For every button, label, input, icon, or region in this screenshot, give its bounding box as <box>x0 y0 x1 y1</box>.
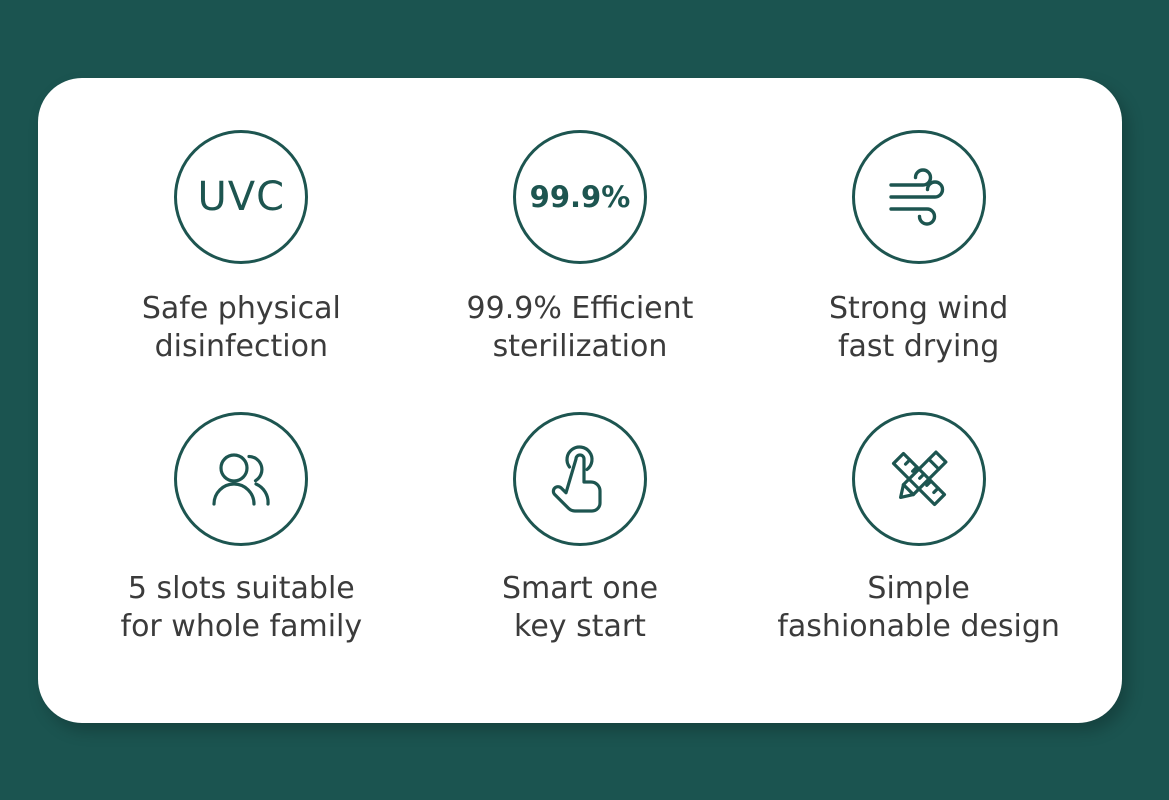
wind-icon <box>852 130 986 264</box>
two-people-icon <box>174 412 308 546</box>
uvc-icon-label: UVC <box>198 177 286 217</box>
feature-caption-wind: Strong wind fast drying <box>829 290 1008 367</box>
feature-caption-one-key: Smart one key start <box>502 570 658 647</box>
feature-card: UVC Safe physical disinfection 99.9% 99.… <box>38 78 1122 723</box>
percentage-icon-label: 99.9% <box>530 183 631 212</box>
uvc-text-icon: UVC <box>174 130 308 264</box>
feature-caption-uvc: Safe physical disinfection <box>142 290 341 367</box>
feature-item-family: 5 slots suitable for whole family <box>72 412 411 682</box>
feature-caption-design: Simple fashionable design <box>777 570 1060 647</box>
feature-item-design: Simple fashionable design <box>749 412 1088 682</box>
feature-item-sterilization: 99.9% 99.9% Efficient sterilization <box>411 130 750 400</box>
feature-caption-sterilization: 99.9% Efficient sterilization <box>467 290 694 367</box>
percentage-text-icon: 99.9% <box>513 130 647 264</box>
feature-item-wind: Strong wind fast drying <box>749 130 1088 400</box>
feature-caption-family: 5 slots suitable for whole family <box>121 570 363 647</box>
feature-grid: UVC Safe physical disinfection 99.9% 99.… <box>72 130 1088 681</box>
pencil-ruler-icon <box>852 412 986 546</box>
feature-item-uvc: UVC Safe physical disinfection <box>72 130 411 400</box>
feature-item-one-key: Smart one key start <box>411 412 750 682</box>
tap-hand-icon <box>513 412 647 546</box>
